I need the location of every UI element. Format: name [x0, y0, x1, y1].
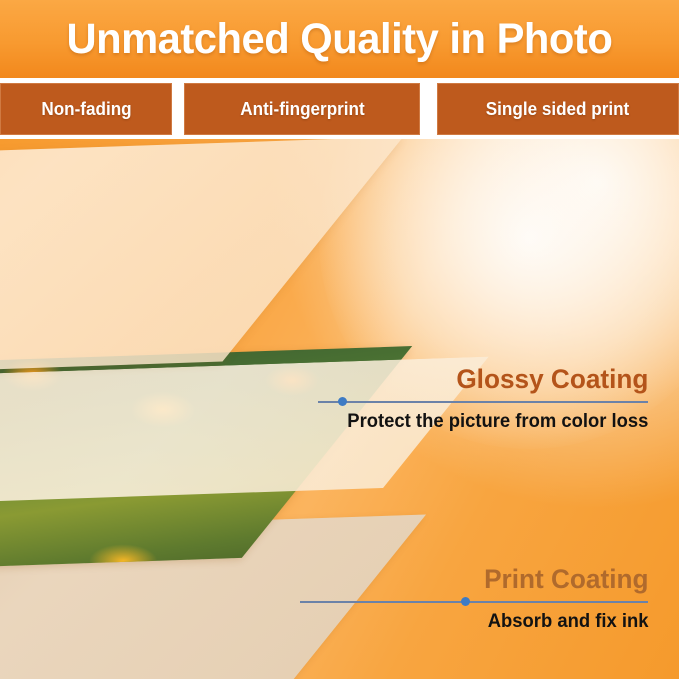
- leader-dot-icon: [338, 397, 347, 406]
- layer-diagram-scene: Glossy Coating Protect the picture from …: [0, 139, 679, 679]
- callout-glossy-coating: Glossy Coating Protect the picture from …: [338, 366, 648, 433]
- callout-title: Glossy Coating: [347, 366, 648, 393]
- product-infographic: Unmatched Quality in Photo Non-fading An…: [0, 0, 679, 679]
- leader-line-group: [479, 597, 649, 606]
- feature-pill-anti-fingerprint[interactable]: Anti-fingerprint: [184, 83, 420, 135]
- feature-pill-single-sided-print[interactable]: Single sided print: [437, 83, 679, 135]
- callout-print-coating: Print Coating Absorb and fix ink: [479, 566, 649, 633]
- feature-pill-label: Single sided print: [486, 99, 629, 120]
- feature-pill-label: Anti-fingerprint: [240, 99, 364, 120]
- callout-title: Print Coating: [484, 566, 648, 593]
- callout-subtitle: Absorb and fix ink: [484, 611, 648, 633]
- leader-dot-icon: [461, 597, 470, 606]
- header-banner: Unmatched Quality in Photo: [0, 0, 679, 78]
- leader-line: [318, 401, 648, 403]
- feature-pill-bar: Non-fading Anti-fingerprint Single sided…: [0, 78, 679, 139]
- feature-pill-non-fading[interactable]: Non-fading: [0, 83, 172, 135]
- callout-subtitle: Protect the picture from color loss: [347, 411, 648, 433]
- page-title: Unmatched Quality in Photo: [67, 15, 613, 64]
- leader-line: [300, 601, 648, 603]
- feature-pill-label: Non-fading: [41, 99, 131, 120]
- glossy-coating-sheet: [0, 139, 403, 384]
- leader-line-group: [338, 397, 648, 406]
